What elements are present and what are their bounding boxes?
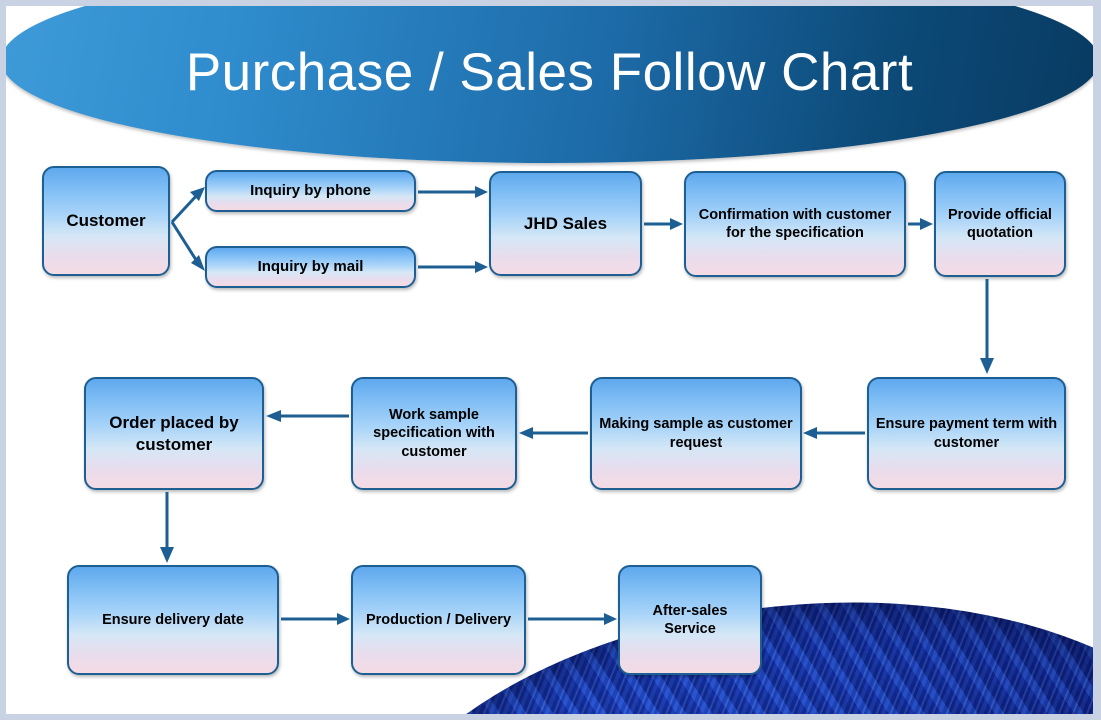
edge-jhd-sales-to-confirmation (644, 218, 683, 230)
edge-customer-to-inquiry-mail (172, 222, 205, 271)
edge-inquiry-mail-to-jhd-sales (418, 261, 488, 273)
edge-payment-term-to-making-sample (803, 427, 865, 439)
edge-confirmation-to-quotation (908, 218, 933, 230)
edge-work-sample-to-order-placed (266, 410, 349, 422)
edge-customer-to-inquiry-phone (172, 187, 205, 222)
connectors-layer (6, 6, 1093, 714)
edge-order-placed-to-delivery-date (160, 492, 174, 563)
edge-inquiry-phone-to-jhd-sales (418, 186, 488, 198)
edge-production-to-after-sales (528, 613, 617, 625)
edge-quotation-to-payment-term (980, 279, 994, 374)
slide-canvas: Purchase / Sales Follow Chart Customer I… (6, 6, 1093, 714)
edge-delivery-date-to-production (281, 613, 350, 625)
edge-making-sample-to-work-sample (519, 427, 588, 439)
